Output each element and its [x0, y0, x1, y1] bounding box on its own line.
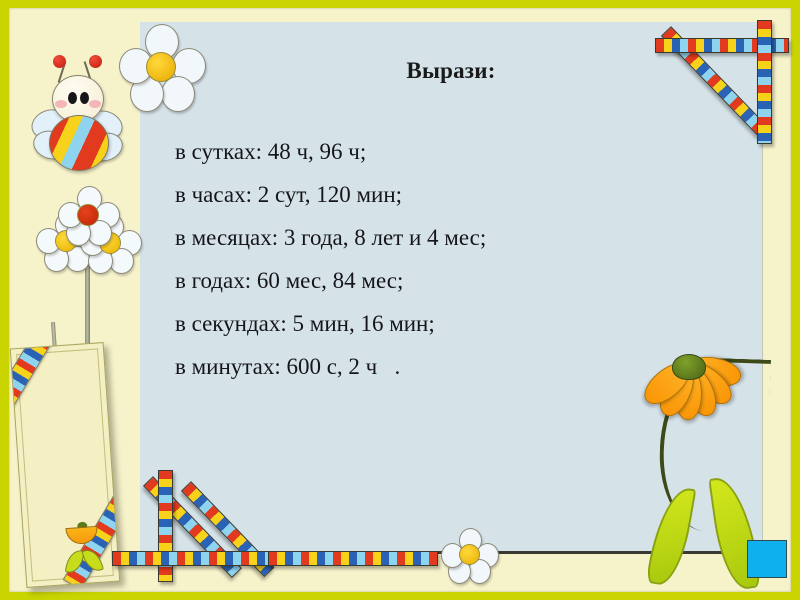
- bee-cheek-right: [89, 100, 101, 108]
- bee-antenna-ball-left: [53, 55, 66, 68]
- cyan-square-marker: [747, 540, 787, 578]
- daisy-flower-icon-bottom: [441, 528, 497, 582]
- task-line: в месяцах: 3 года, 8 лет и 4 мес;: [175, 216, 735, 259]
- bee-antenna-ball-right: [89, 55, 102, 68]
- daisy-flower-icon-top-center: [58, 186, 118, 244]
- striped-stick-horizontal2-bottom-left: [268, 551, 438, 566]
- bee-body: [49, 115, 109, 171]
- note-card-flower-icon: [61, 526, 104, 577]
- page-title: Вырази:: [140, 58, 762, 84]
- task-line: в секундах: 5 мин, 16 мин;: [175, 302, 735, 345]
- task-line: в часах: 2 сут, 120 мин;: [175, 173, 735, 216]
- note-card: [10, 342, 121, 588]
- task-line: в годах: 60 мес, 84 мес;: [175, 259, 735, 302]
- daisy-center: [459, 544, 480, 565]
- task-line: в сутках: 48 ч, 96 ч;: [175, 130, 735, 173]
- bee-cheek-left: [55, 100, 67, 108]
- orange-flower-leaf-left: [646, 484, 697, 588]
- note-flower-head: [65, 526, 98, 545]
- striped-stick-horizontal-bottom-left: [112, 551, 272, 566]
- note-flower-leaf-right: [81, 546, 104, 574]
- slide: Вырази: в сутках: 48 ч, 96 ч; в часах: 2…: [0, 0, 800, 600]
- bee-eye-right: [80, 92, 89, 104]
- daisy-center-red: [77, 204, 99, 226]
- task-line: в минутах: 600 с, 2 ч .: [175, 345, 735, 388]
- task-lines-list: в сутках: 48 ч, 96 ч; в часах: 2 сут, 12…: [175, 130, 735, 388]
- bee-eye-left: [68, 92, 77, 104]
